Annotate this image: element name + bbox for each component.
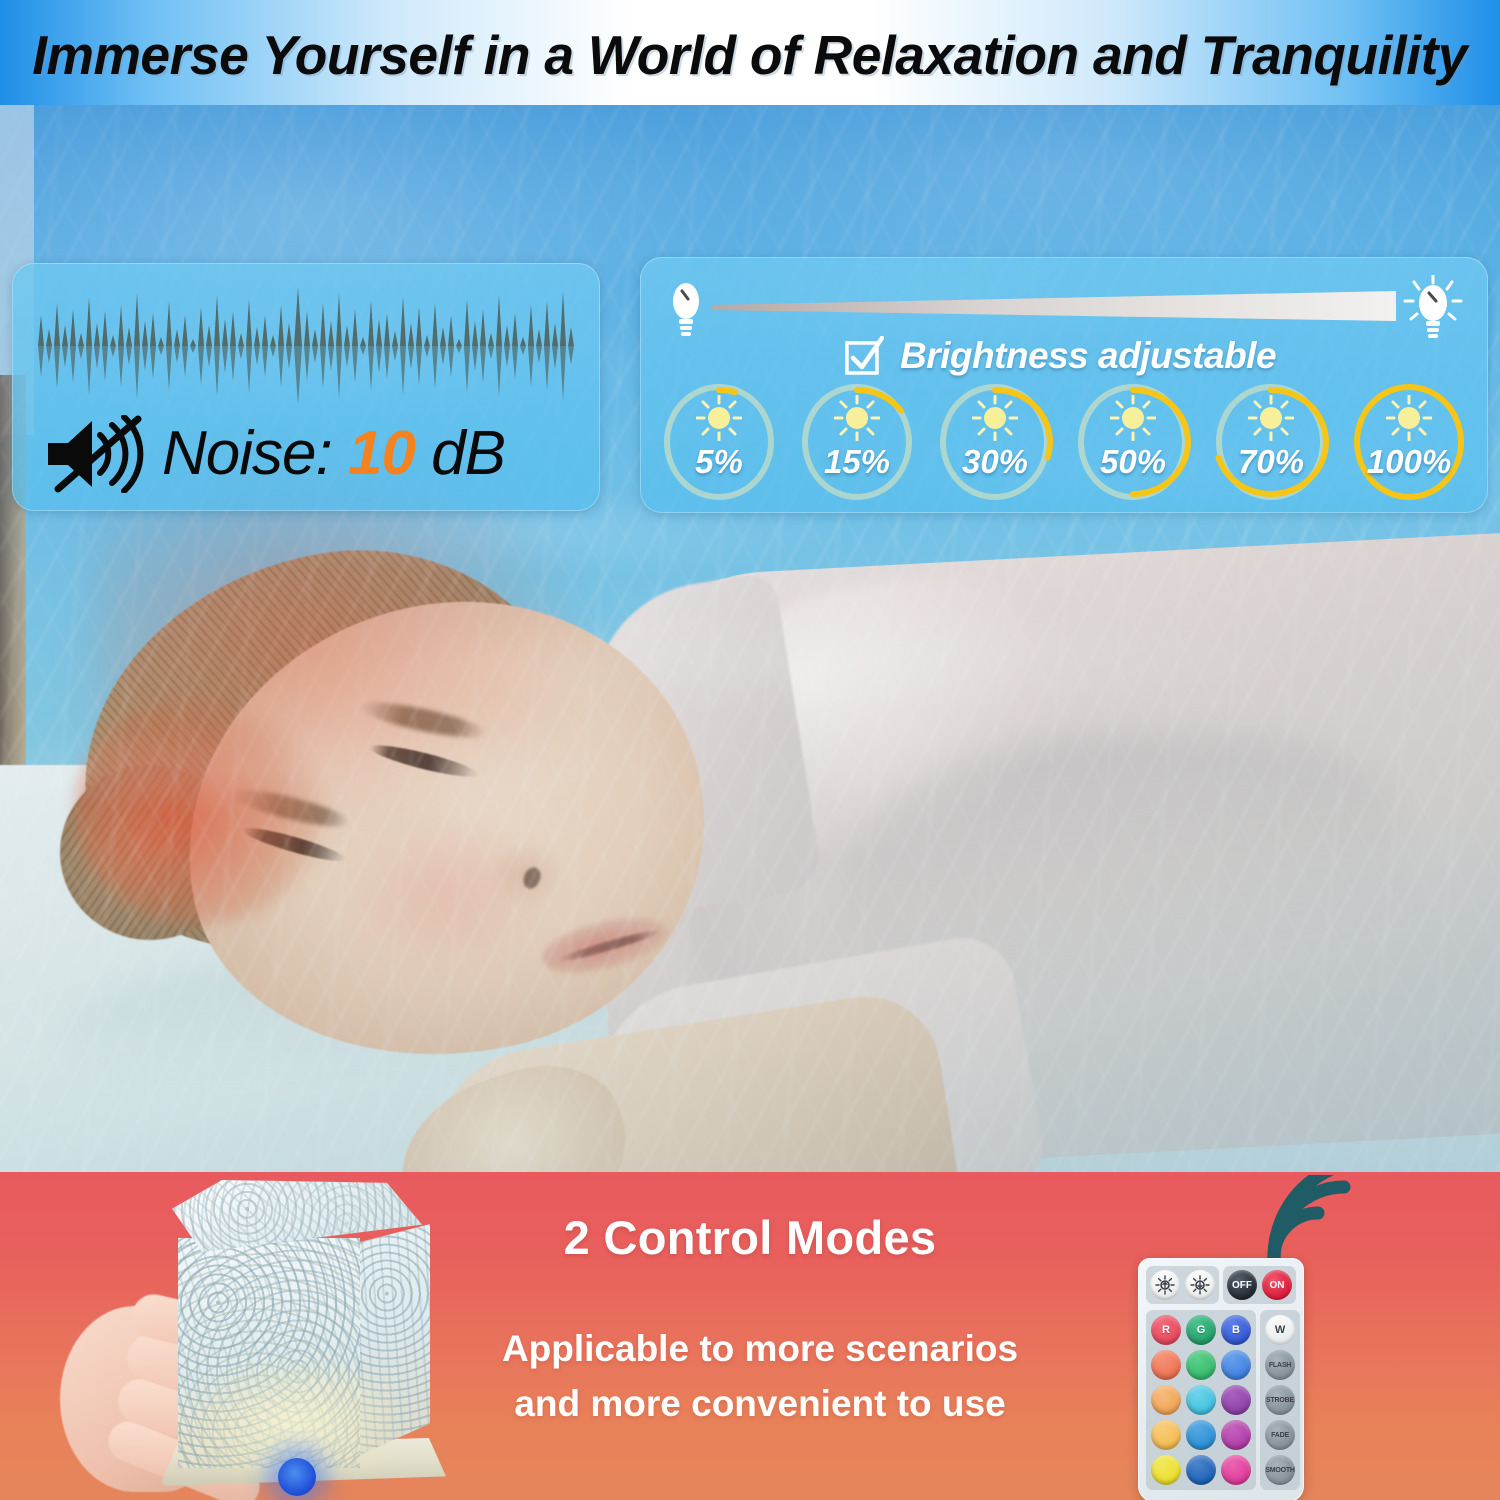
crystal-cube-lamp: [150, 1180, 470, 1480]
color-button-b[interactable]: B: [1221, 1315, 1251, 1345]
color-button-navy[interactable]: [1186, 1455, 1216, 1485]
color-button-yellow[interactable]: [1151, 1455, 1181, 1485]
off-button[interactable]: OFF: [1227, 1270, 1257, 1300]
brightness-panel: Brightness adjustable: [640, 257, 1488, 513]
color-button-r[interactable]: R: [1151, 1315, 1181, 1345]
subtitle-line-2: and more convenient to use: [440, 1377, 1080, 1432]
slider-track[interactable]: [712, 291, 1396, 325]
color-button-violet[interactable]: [1221, 1420, 1251, 1450]
color-button-orange[interactable]: [1151, 1350, 1181, 1380]
brightness-buttons-group: [1146, 1266, 1219, 1304]
color-button-green[interactable]: [1186, 1350, 1216, 1380]
power-buttons-group: OFF ON: [1223, 1266, 1296, 1304]
speaker-muted-icon: [42, 415, 152, 493]
brightness-level-100[interactable]: 100%: [1348, 383, 1470, 501]
control-modes-subtitle: Applicable to more scenarios and more co…: [440, 1322, 1080, 1432]
sun-icon: [1110, 395, 1156, 441]
smooth-button[interactable]: SMOOTH: [1265, 1455, 1295, 1485]
color-button-blue[interactable]: [1221, 1350, 1251, 1380]
brightness-level-5[interactable]: 5%: [658, 383, 780, 501]
brightness-level-label: 70%: [1238, 443, 1304, 481]
page-title: Immerse Yourself in a World of Relaxatio…: [33, 23, 1468, 87]
audio-waveform: [34, 285, 580, 407]
bulb-bright-icon: [1402, 275, 1464, 341]
flash-button[interactable]: FLASH: [1265, 1350, 1295, 1380]
checkbox-checked-icon[interactable]: [844, 336, 884, 376]
color-button-cyan[interactable]: [1186, 1385, 1216, 1415]
hero-photo: Noise: 10 dB: [0, 105, 1500, 1175]
brightness-adjustable-label: Brightness adjustable: [900, 335, 1276, 377]
sun-icon: [1248, 395, 1294, 441]
color-button-pink[interactable]: [1221, 1455, 1251, 1485]
product-infographic: Immerse Yourself in a World of Relaxatio…: [0, 0, 1500, 1500]
fade-button[interactable]: FADE: [1265, 1420, 1295, 1450]
brightness-level-15[interactable]: 15%: [796, 383, 918, 501]
color-button-g[interactable]: G: [1186, 1315, 1216, 1345]
touch-button[interactable]: [278, 1458, 316, 1496]
remote-control[interactable]: OFF ON R G B: [1138, 1258, 1304, 1500]
brightness-level-30[interactable]: 30%: [934, 383, 1056, 501]
noise-label: Noise:: [162, 419, 332, 488]
noise-text: Noise: 10 dB: [162, 423, 505, 485]
brightness-level-50[interactable]: 50%: [1072, 383, 1194, 501]
color-button-amber[interactable]: [1151, 1385, 1181, 1415]
white-button[interactable]: W: [1265, 1315, 1295, 1345]
header-banner: Immerse Yourself in a World of Relaxatio…: [0, 0, 1500, 110]
brightness-adjustable-row: Brightness adjustable: [844, 335, 1276, 377]
brightness-level-label: 30%: [962, 443, 1028, 481]
sun-icon: [696, 395, 742, 441]
mode-buttons-column: W FLASH STROBE FADE SMOOTH: [1260, 1310, 1300, 1490]
brightness-level-label: 100%: [1367, 443, 1451, 481]
brightness-up-button[interactable]: [1150, 1270, 1180, 1300]
sun-icon: [972, 395, 1018, 441]
strobe-button[interactable]: STROBE: [1265, 1385, 1295, 1415]
brightness-level-label: 5%: [695, 443, 743, 481]
remote-top-row: OFF ON: [1146, 1266, 1296, 1304]
color-button-purple[interactable]: [1221, 1385, 1251, 1415]
brightness-levels: 5%: [658, 383, 1470, 501]
remote-main-grid: R G B W FLASH STROBE FADE: [1146, 1310, 1296, 1490]
subtitle-line-1: Applicable to more scenarios: [440, 1322, 1080, 1377]
color-button-azure[interactable]: [1186, 1420, 1216, 1450]
bulb-dim-icon: [666, 279, 706, 337]
sun-icon: [1386, 395, 1432, 441]
brightness-level-label: 15%: [824, 443, 890, 481]
brightness-level-label: 50%: [1100, 443, 1166, 481]
on-button[interactable]: ON: [1262, 1270, 1292, 1300]
color-buttons-grid: R G B: [1146, 1310, 1256, 1490]
noise-value: 10: [348, 419, 415, 488]
sun-icon: [834, 395, 880, 441]
noise-readout: Noise: 10 dB: [42, 413, 582, 495]
noise-panel: Noise: 10 dB: [12, 263, 600, 511]
brightness-slider[interactable]: [666, 271, 1464, 345]
cube-inner-glow: [196, 1362, 396, 1472]
brightness-down-button[interactable]: [1185, 1270, 1215, 1300]
brightness-level-70[interactable]: 70%: [1210, 383, 1332, 501]
noise-unit: dB: [431, 419, 505, 488]
color-button-yellow-orange[interactable]: [1151, 1420, 1181, 1450]
